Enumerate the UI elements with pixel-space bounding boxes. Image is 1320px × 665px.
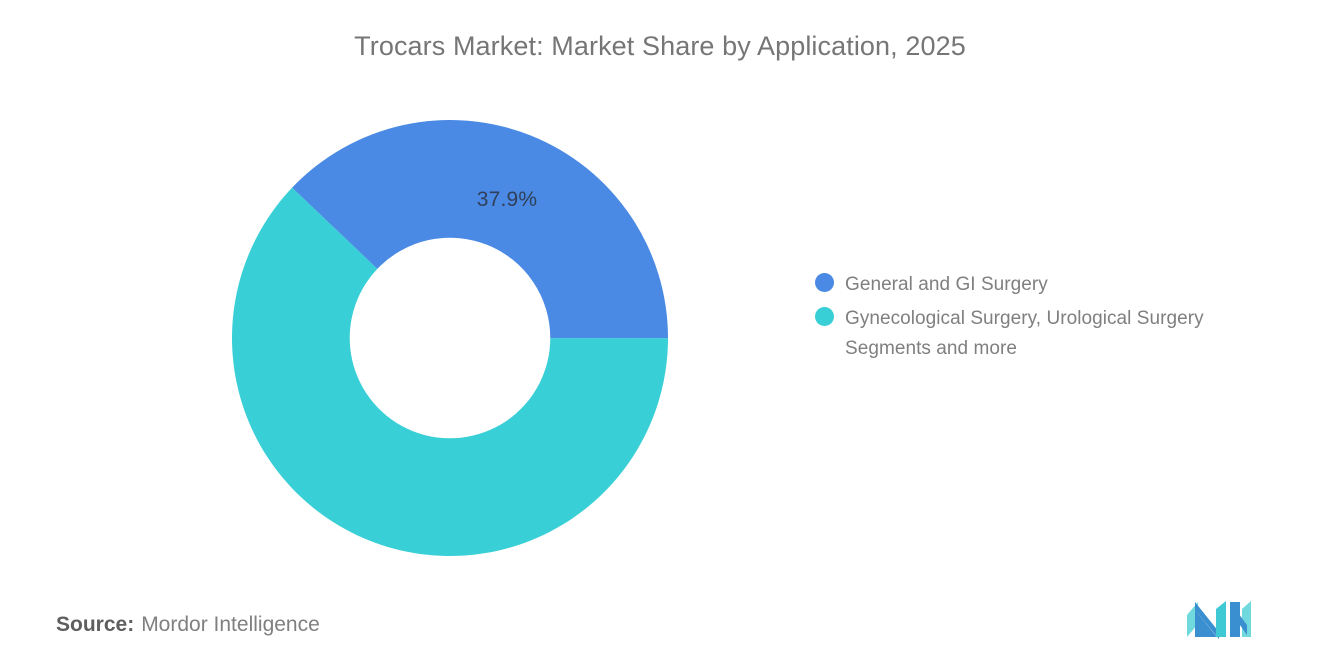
donut-slice-value-label: 37.9% — [455, 188, 559, 212]
source-attribution: Source:Mordor Intelligence — [56, 613, 320, 637]
legend-swatch-icon — [815, 273, 834, 292]
legend-label-line1: Gynecological Surgery, Urological Surger… — [845, 304, 1204, 334]
legend-item-general-gi-surgery[interactable]: General and GI Surgery — [815, 270, 1285, 300]
legend-label-line1: General and GI Surgery — [845, 270, 1048, 300]
source-value: Mordor Intelligence — [141, 613, 320, 636]
brand-logo-icon — [1185, 597, 1257, 639]
legend-label: Gynecological Surgery, Urological Surger… — [845, 304, 1204, 364]
donut-chart — [232, 120, 668, 556]
chart-canvas: Trocars Market: Market Share by Applicat… — [0, 0, 1320, 665]
legend-swatch-icon — [815, 307, 834, 326]
legend-label: General and GI Surgery — [845, 270, 1048, 300]
page-title: Trocars Market: Market Share by Applicat… — [0, 31, 1320, 62]
mordor-intelligence-logo — [1185, 597, 1257, 639]
donut-svg — [232, 120, 668, 556]
legend: General and GI Surgery Gynecological Sur… — [815, 270, 1285, 368]
legend-item-gynecological-urological[interactable]: Gynecological Surgery, Urological Surger… — [815, 304, 1285, 364]
source-label: Source: — [56, 613, 134, 636]
legend-label-line2: Segments and more — [845, 334, 1204, 364]
